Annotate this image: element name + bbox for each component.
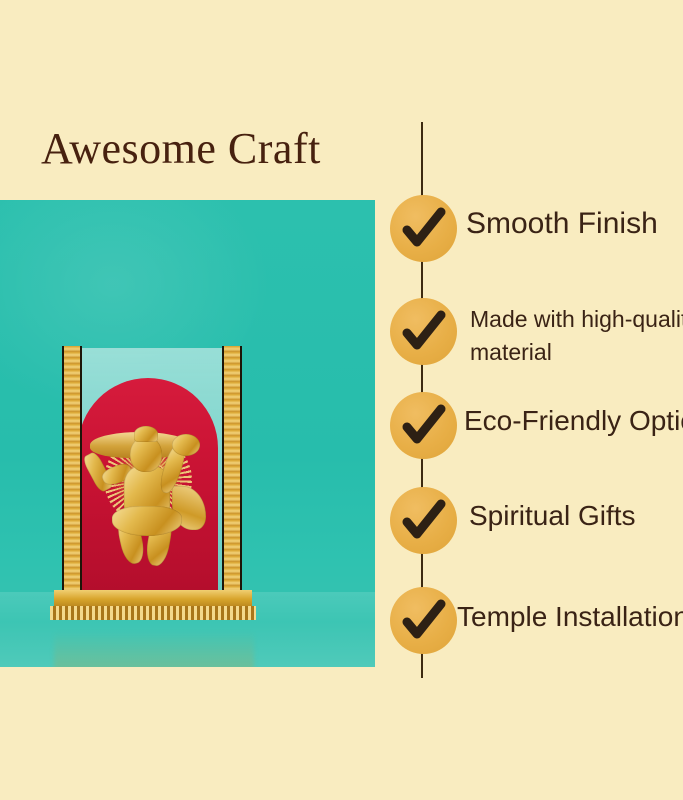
- hanuman-idol: ॐ: [40, 340, 265, 608]
- page-title: Awesome Craft: [41, 126, 321, 172]
- feature-label: Smooth Finish: [466, 207, 658, 241]
- check-icon: [390, 487, 457, 554]
- check-icon: [390, 298, 457, 365]
- gold-plinth-trim: [50, 606, 256, 620]
- gold-pillar-left: [62, 346, 82, 596]
- feature-checklist: Smooth Finish Made with high-quality mat…: [375, 0, 683, 800]
- idol-reflection: [54, 620, 254, 667]
- product-photo: ॐ: [0, 200, 375, 667]
- deity-figure: [90, 432, 208, 582]
- check-icon: [390, 392, 457, 459]
- deity-dhoti: [112, 506, 182, 536]
- deity-offering-hand: [172, 434, 200, 456]
- infographic-canvas: Awesome Craft ॐ: [0, 0, 683, 800]
- feature-label: Made with high-quality material: [470, 303, 683, 370]
- gold-pillar-right: [222, 346, 242, 596]
- feature-label: Spiritual Gifts: [469, 500, 636, 532]
- feature-label: Temple Installations: [457, 601, 683, 633]
- check-icon: [390, 195, 457, 262]
- feature-label: Eco-Friendly Options: [464, 405, 683, 437]
- deity-crown: [134, 426, 158, 442]
- check-icon: [390, 587, 457, 654]
